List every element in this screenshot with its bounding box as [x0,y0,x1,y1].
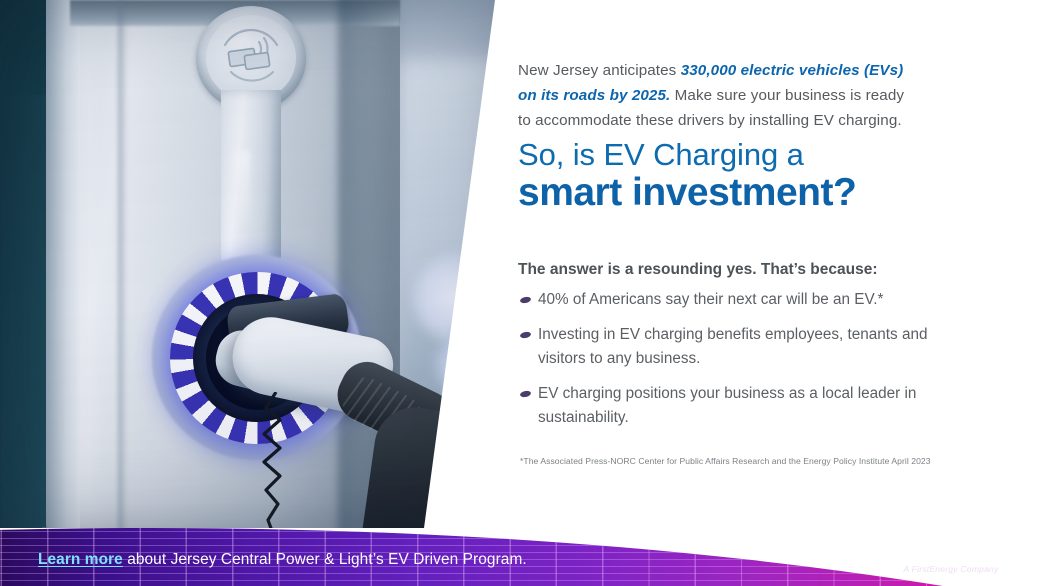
intro-text-part-1: New Jersey anticipates [518,62,681,79]
headline-line-2: smart investment? [518,170,856,216]
ev-charging-advertisement: New Jersey anticipates 330,000 electric … [0,0,1047,586]
benefits-list: 40% of Americans say their next car will… [518,288,938,441]
bullet-dot-icon [519,296,531,304]
learn-more-link[interactable]: Learn more [38,551,123,568]
ev-charging-station-photo [0,0,500,528]
bullet-dot-icon [519,331,531,339]
bullet-dot-icon [519,390,531,398]
photo-vignette [0,0,500,528]
list-item: 40% of Americans say their next car will… [518,288,938,312]
intro-paragraph: New Jersey anticipates 330,000 electric … [518,58,918,133]
registered-trademark-icon: ® [1031,529,1036,538]
logo-tagline: A FirstEnergy Company [866,564,1036,575]
list-item: Investing in EV charging benefits employ… [518,323,938,371]
list-item-label: EV charging positions your business as a… [538,385,916,426]
answer-lead-text: The answer is a resounding yes. That’s b… [518,259,878,280]
list-item-label: 40% of Americans say their next car will… [538,291,884,308]
list-item-label: Investing in EV charging benefits employ… [538,326,927,367]
content-column: New Jersey anticipates 330,000 electric … [518,0,988,528]
headline-line-1: So, is EV Charging a [518,138,804,172]
jersey-central-power-and-light-logo: Jersey Central® Power & Light A FirstEne… [866,522,1036,578]
footer-cta-line: Learn more about Jersey Central Power & … [38,550,527,570]
footnote-source: *The Associated Press-NORC Center for Pu… [520,455,970,467]
photo-stage [0,0,500,528]
list-item: EV charging positions your business as a… [518,382,938,430]
footer-cta-text: about Jersey Central Power & Light’s EV … [123,551,527,568]
